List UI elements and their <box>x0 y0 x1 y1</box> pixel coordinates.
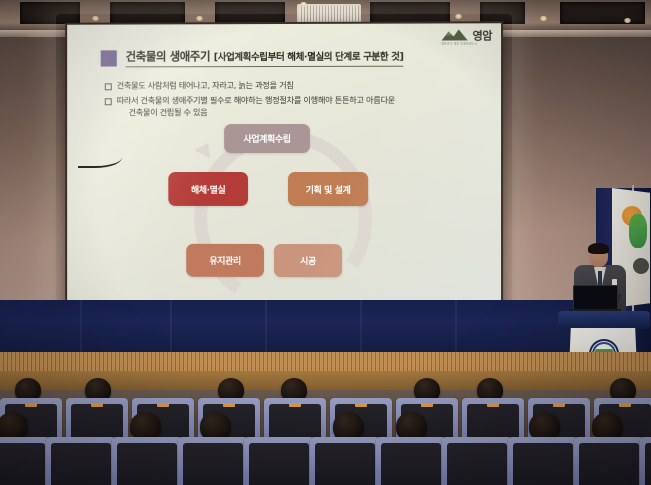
slide-logo-subtext: 대한민국 대표 문화관광도시 <box>441 41 477 45</box>
auditorium-seat <box>508 437 578 485</box>
bullet-text-block: 따라서 건축물의 생애주기별 필수로 해야하는 행정절차를 이행해야 튼튼하고 … <box>117 95 395 119</box>
auditorium-seat <box>574 437 644 485</box>
lifecycle-cycle-diagram: 사업계획수립 기획 및 설계 시공 유지관리 해체·멸실 <box>170 124 400 299</box>
bullet-text: 건축물도 사람처럼 태어나고, 자라고, 늙는 과정을 거침 <box>117 80 294 92</box>
lectern-top <box>558 311 650 329</box>
projected-slide: 대한민국 대표 문화관광도시 영암 건축물의 생애주기 [사업계획수립부터 해체… <box>67 23 501 311</box>
checkbox-bullet-icon <box>105 83 112 90</box>
seat-number-tag <box>223 403 235 407</box>
auditorium-seat <box>0 437 50 485</box>
seat-back-panel <box>447 443 507 485</box>
seat-back-panel <box>381 443 441 485</box>
seat-back-panel <box>315 443 375 485</box>
projection-screen-frame: 대한민국 대표 문화관광도시 영암 건축물의 생애주기 [사업계획수립부터 해체… <box>65 21 503 313</box>
seat-back-panel <box>0 443 45 485</box>
auditorium-seat <box>112 437 182 485</box>
seat-back-panel <box>513 443 573 485</box>
bullet-item: 건축물도 사람처럼 태어나고, 자라고, 늙는 과정을 거침 <box>105 80 455 93</box>
seat-back-panel <box>249 443 309 485</box>
checkbox-bullet-icon <box>105 98 112 105</box>
seat-number-tag <box>487 403 499 407</box>
cycle-arrow-icon <box>194 139 216 159</box>
seat-number-tag <box>25 403 37 407</box>
cycle-node-design: 기획 및 설계 <box>288 172 368 206</box>
slide-heading: 건축물의 생애주기 [사업계획수립부터 해체·멸실의 단계로 구분한 것] <box>101 48 404 68</box>
slide-bullet-list: 건축물도 사람처럼 태어나고, 자라고, 늙는 과정을 거침 따라서 건축물의 … <box>105 80 455 122</box>
bullet-item: 따라서 건축물의 생애주기별 필수로 해야하는 행정절차를 이행해야 튼튼하고 … <box>105 95 455 119</box>
cycle-node-plan: 사업계획수립 <box>224 124 310 153</box>
seat-number-tag <box>355 403 367 407</box>
seat-number-tag <box>421 403 433 407</box>
auditorium-seat <box>640 437 651 485</box>
seat-back-panel <box>645 443 651 485</box>
seat-number-tag <box>619 403 631 407</box>
auditorium-seat <box>244 437 314 485</box>
cycle-node-maintain: 유지관리 <box>186 244 264 277</box>
seat-back-panel <box>183 443 243 485</box>
laptop-screen <box>573 285 618 311</box>
heading-subtitle: [사업계획수립부터 해체·멸실의 단계로 구분한 것] <box>214 52 404 63</box>
heading-title: 건축물의 생애주기 <box>126 49 211 63</box>
stage-floor-slats <box>0 352 651 371</box>
heading-bullet-square <box>101 50 117 66</box>
auditorium-seat <box>376 437 446 485</box>
seat-back-panel <box>579 443 639 485</box>
auditorium-seat <box>178 437 248 485</box>
stage-curtain <box>0 300 651 358</box>
bullet-continuation: 건축물이 건립될 수 있음 <box>129 107 395 119</box>
left-wall-panel <box>0 37 68 315</box>
slide-logo: 대한민국 대표 문화관광도시 영암 <box>439 27 492 43</box>
auditorium-seat <box>46 437 116 485</box>
auditorium-seat <box>442 437 512 485</box>
seat-back-panel <box>117 443 177 485</box>
seat-back-panel <box>51 443 111 485</box>
slide-logo-text: 영암 <box>473 30 492 41</box>
cycle-node-demolish: 해체·멸실 <box>168 172 248 206</box>
seat-number-tag <box>553 403 565 407</box>
cycle-node-construct: 시공 <box>274 244 342 277</box>
screenshot-root: 대한민국 대표 문화관광도시 영암 건축물의 생애주기 [사업계획수립부터 해체… <box>0 0 651 485</box>
bullet-text: 따라서 건축물의 생애주기별 필수로 해야하는 행정절차를 이행해야 튼튼하고 … <box>117 95 395 105</box>
seat-number-tag <box>289 403 301 407</box>
auditorium-seat <box>310 437 380 485</box>
speaker-hair <box>588 243 609 254</box>
heading-text: 건축물의 생애주기 [사업계획수립부터 해체·멸실의 단계로 구분한 것] <box>126 48 404 68</box>
seat-number-tag <box>157 403 169 407</box>
seat-number-tag <box>91 403 103 407</box>
